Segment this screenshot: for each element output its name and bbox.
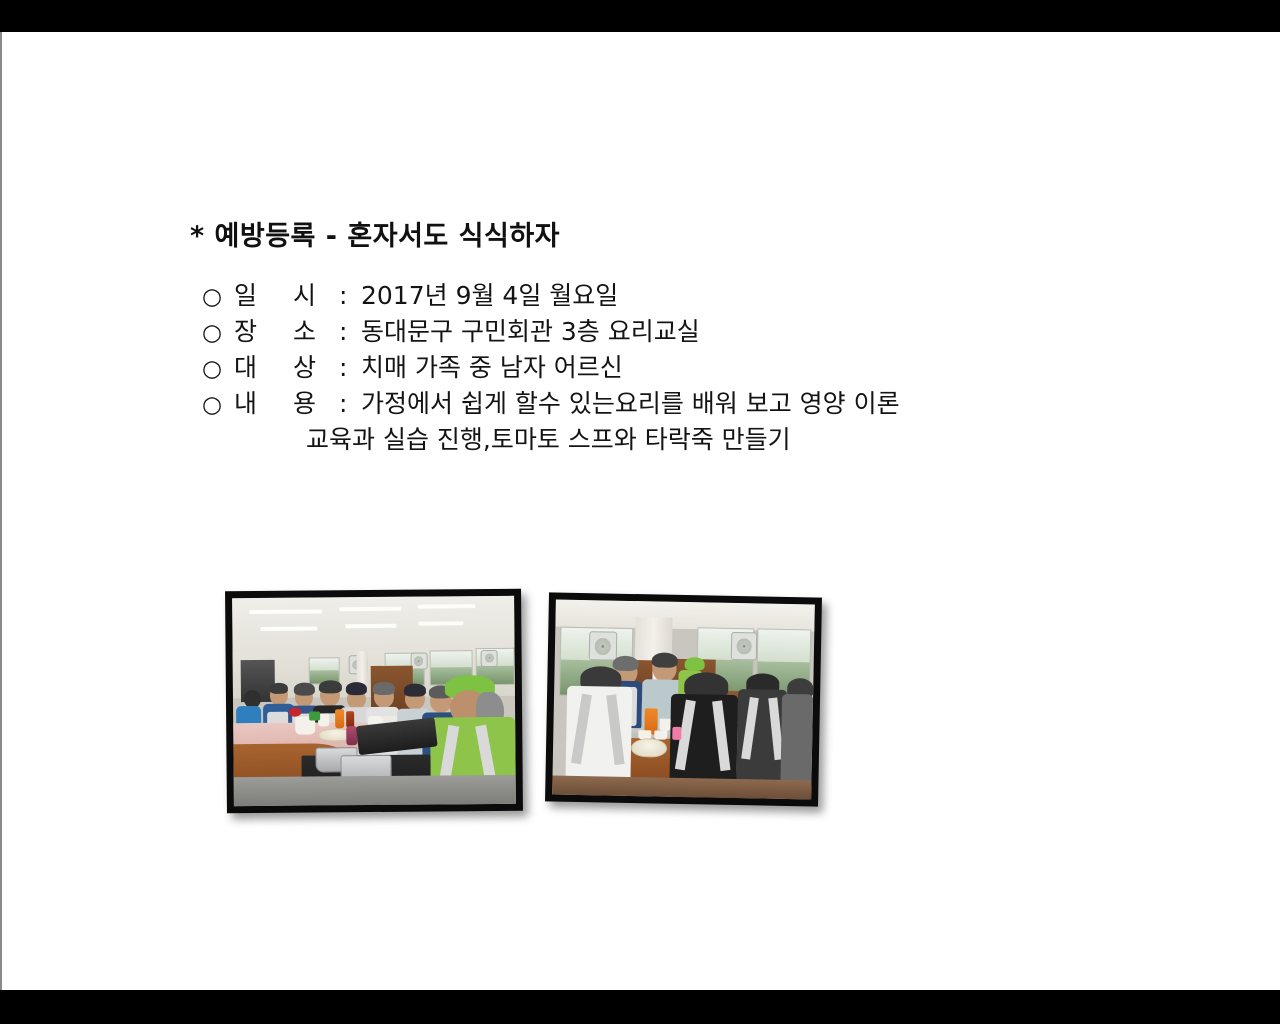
ceiling-light (261, 627, 317, 631)
info-list: ○ 일 시 : 2017년 9월 4일 월요일 ○ 장 소 : 동대문구 구민회… (202, 276, 900, 456)
list-item: ○ 일 시 : 2017년 9월 4일 월요일 (202, 276, 900, 312)
info-colon: : (339, 353, 361, 382)
bullet-circle-icon: ○ (202, 284, 234, 310)
pink-container (672, 727, 681, 741)
bullet-circle-icon: ○ (202, 320, 234, 346)
person-hair (372, 682, 395, 695)
info-label: 내 용 (234, 384, 339, 420)
page-title: * 예방등록 - 혼자서도 식식하자 (190, 214, 560, 253)
person-hair (652, 652, 678, 668)
cup (660, 719, 671, 731)
info-continuation-line: 교육과 실습 진행,토마토 스프와 타락죽 만들기 (202, 420, 900, 456)
info-value: 가정에서 쉽게 할수 있는요리를 배워 보고 영양 이론 (361, 384, 900, 420)
photo-1-scene (232, 596, 516, 806)
floor (234, 775, 516, 807)
green-cap-icon (684, 657, 705, 671)
person-hair (613, 655, 639, 671)
letterbox-top-bar (0, 0, 1280, 32)
bullet-circle-icon: ○ (202, 392, 234, 418)
photo-2-scene (552, 600, 815, 800)
letterbox-bottom-bar (0, 990, 1280, 1024)
list-item: ○ 장 소 : 동대문구 구민회관 3층 요리교실 (202, 312, 900, 348)
sauce-bottle (335, 710, 345, 729)
bullet-circle-icon: ○ (202, 356, 234, 382)
person-cap (293, 683, 314, 696)
person-body (780, 694, 813, 788)
person-hair (319, 680, 342, 693)
wall-fan-icon (481, 650, 498, 667)
presentation-screen: * 예방등록 - 혼자서도 식식하자 ○ 일 시 : 2017년 9월 4일 월… (0, 0, 1280, 1024)
list-item: ○ 내 용 : 가정에서 쉽게 할수 있는요리를 배워 보고 영양 이론 (202, 384, 900, 420)
person-cap (403, 684, 426, 697)
list-item: ○ 대 상 : 치매 가족 중 남자 어르신 (202, 348, 900, 384)
info-label: 장 소 (234, 312, 339, 348)
wall-fan-icon (731, 632, 757, 660)
cooking-class-counter-photo (225, 589, 523, 814)
ceiling-light (345, 624, 396, 628)
slide-canvas: * 예방등록 - 혼자서도 식식하자 ○ 일 시 : 2017년 9월 4일 월… (0, 32, 1280, 990)
cooking-class-group-photo (545, 592, 822, 806)
info-value: 치매 가족 중 남자 어르신 (361, 348, 623, 384)
ceiling-light (418, 621, 463, 625)
info-colon: : (339, 281, 361, 310)
wall-fan-icon (588, 631, 617, 661)
produce-item (309, 712, 320, 720)
info-label: 일 시 (234, 276, 339, 312)
tomato (289, 708, 300, 716)
info-colon: : (339, 317, 361, 346)
info-value: 2017년 9월 4일 월요일 (361, 276, 618, 312)
person-cap (346, 682, 367, 695)
info-colon: : (339, 389, 361, 418)
info-label: 대 상 (234, 348, 339, 384)
floor (552, 775, 811, 799)
info-value: 동대문구 구민회관 3층 요리교실 (361, 312, 700, 348)
person-hair (269, 683, 287, 694)
mixing-bowl (631, 737, 668, 757)
